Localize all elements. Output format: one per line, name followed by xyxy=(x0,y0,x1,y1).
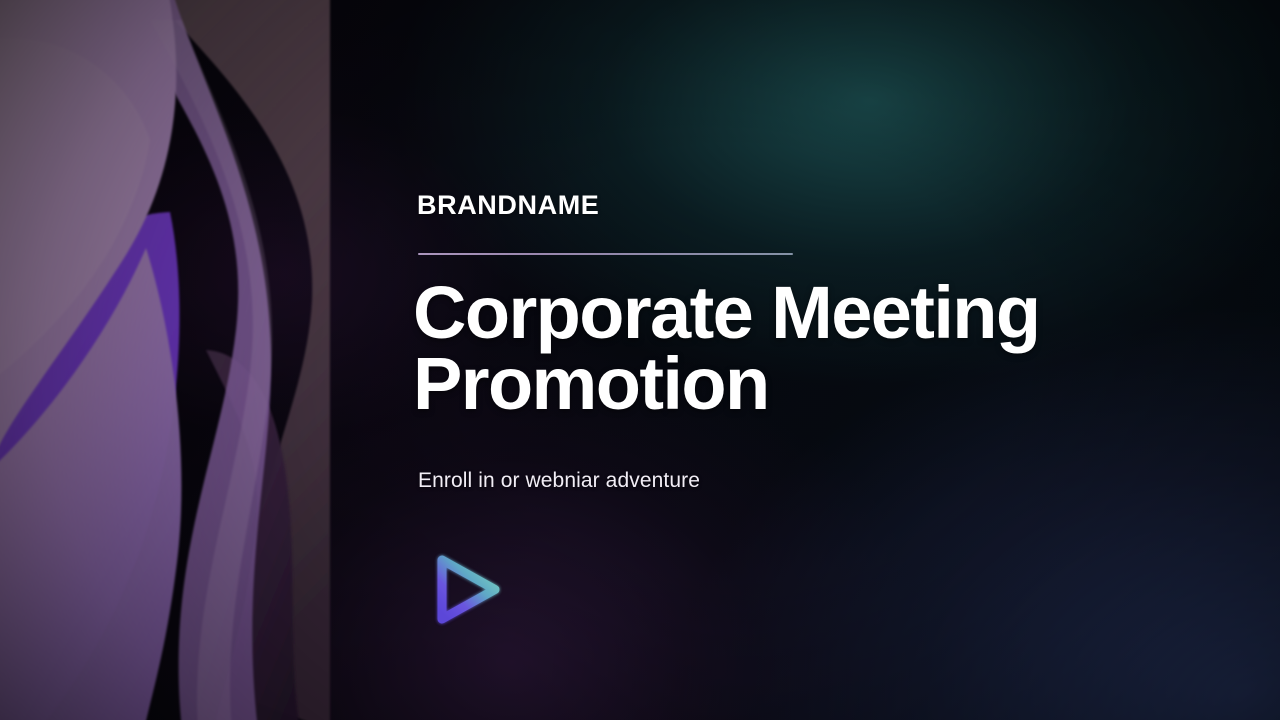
play-triangle-icon xyxy=(425,548,509,632)
page-title: Corporate Meeting Promotion xyxy=(413,277,1213,419)
play-button[interactable] xyxy=(425,548,509,632)
subtitle: Enroll in or webniar adventure xyxy=(418,469,700,493)
title-line-2: Promotion xyxy=(413,348,1213,419)
decorative-ribbon-artwork xyxy=(0,0,340,720)
title-divider xyxy=(418,253,793,255)
brand-name: BRANDNAME xyxy=(417,192,599,219)
presentation-slide: BRANDNAME Corporate Meeting Promotion En… xyxy=(0,0,1280,720)
slide-content: BRANDNAME Corporate Meeting Promotion En… xyxy=(417,0,1217,720)
title-line-1: Corporate Meeting xyxy=(413,277,1213,348)
